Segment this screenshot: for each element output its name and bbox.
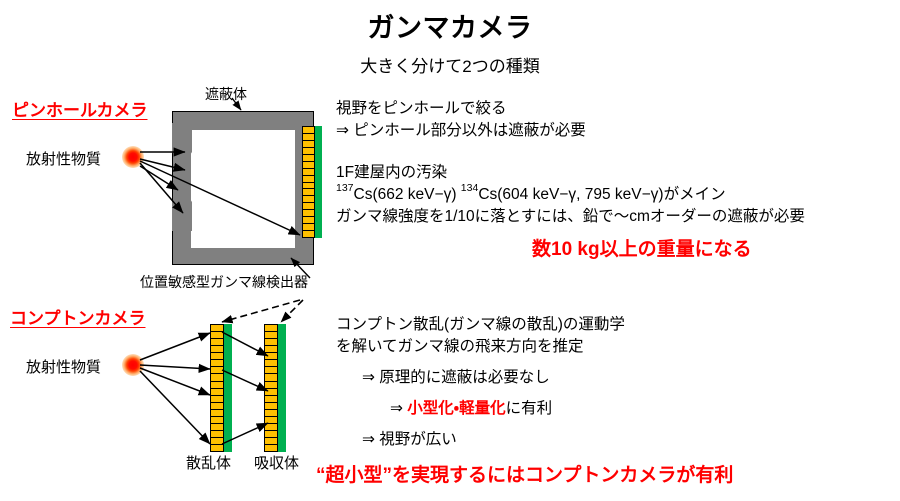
contamination-description: 1F建屋内の汚染 137Cs(662 keV−γ) 134Cs(604 keV−… <box>336 162 805 228</box>
absorber-label: 吸収体 <box>254 452 299 473</box>
bullet-2-highlight: 小型化・軽量化 <box>407 400 505 417</box>
pinhole-camera-heading: ピンホールカメラ <box>12 96 148 121</box>
detector-pixels <box>210 324 224 452</box>
compton-source-label: 放射性物質 <box>26 356 101 377</box>
shielding-requirement-line: ガンマ線強度を1/10に落とすには、鉛で〜cmオーダーの遮蔽が必要 <box>336 206 805 228</box>
compton-bullet-1: ⇒ 原理的に遮蔽は必要なし <box>362 367 625 389</box>
cs134-energy: Cs(604 keV−γ, 795 keV−γ)がメイン <box>478 186 725 203</box>
compton-text-line-2: を解いてガンマ線の飛来方向を推定 <box>336 336 625 358</box>
detector-label-leader-compton <box>222 300 303 322</box>
isotope-line: 137Cs(662 keV−γ) 134Cs(604 keV−γ, 795 ke… <box>336 184 805 206</box>
radioactive-source-icon <box>122 146 144 168</box>
shield-cavity <box>191 130 295 248</box>
pinhole-description: 視野をピンホールで絞る ⇒ ピンホール部分以外は遮蔽が必要 <box>336 98 586 142</box>
conclusion-note: “超小型”を実現するにはコンプトンカメラが有利 <box>316 460 733 487</box>
detector-pixels <box>264 324 278 452</box>
shield-body-shape <box>172 111 314 265</box>
page-title: ガンマカメラ <box>0 6 900 45</box>
contamination-heading: 1F建屋内の汚染 <box>336 162 805 184</box>
bullet-2-arrow: ⇒ <box>390 400 407 417</box>
compton-camera-heading: コンプトンカメラ <box>10 304 146 329</box>
compton-incident-rays <box>140 333 210 444</box>
cs134-mass-number: 134 <box>461 182 479 194</box>
compton-bullet-3: ⇒ 視野が広い <box>362 429 625 451</box>
weight-warning-note: 数10 kg以上の重量になる <box>532 234 752 261</box>
shield-body-label: 遮蔽体 <box>205 84 247 104</box>
pinhole-text-line-1: 視野をピンホールで絞る <box>336 98 586 120</box>
scatterer-label: 散乱体 <box>186 452 231 473</box>
compton-bullet-2: ⇒ 小型化・軽量化に有利 <box>390 398 625 420</box>
pinhole-detector-array <box>302 126 322 238</box>
pinhole-camera-diagram <box>172 105 322 270</box>
cs137-mass-number: 137 <box>336 182 354 194</box>
absorber-detector-array <box>264 324 286 452</box>
pinhole-source-label: 放射性物質 <box>26 148 101 169</box>
cs137-energy: Cs(662 keV−γ) <box>354 186 457 203</box>
position-sensitive-detector-label: 位置敏感型ガンマ線検出器 <box>140 272 308 292</box>
detector-pixels <box>302 126 315 238</box>
scatterer-detector-array <box>210 324 232 452</box>
bullet-2-rest: に有利 <box>506 400 553 417</box>
radioactive-source-icon <box>122 354 144 376</box>
compton-description: コンプトン散乱(ガンマ線の散乱)の運動学 を解いてガンマ線の飛来方向を推定 ⇒ … <box>336 314 625 451</box>
compton-camera-diagram <box>206 320 326 455</box>
pinhole-text-line-2: ⇒ ピンホール部分以外は遮蔽が必要 <box>336 120 586 142</box>
compton-text-line-1: コンプトン散乱(ガンマ線の散乱)の運動学 <box>336 314 625 336</box>
page-subtitle: 大きく分けて2つの種類 <box>0 52 900 77</box>
